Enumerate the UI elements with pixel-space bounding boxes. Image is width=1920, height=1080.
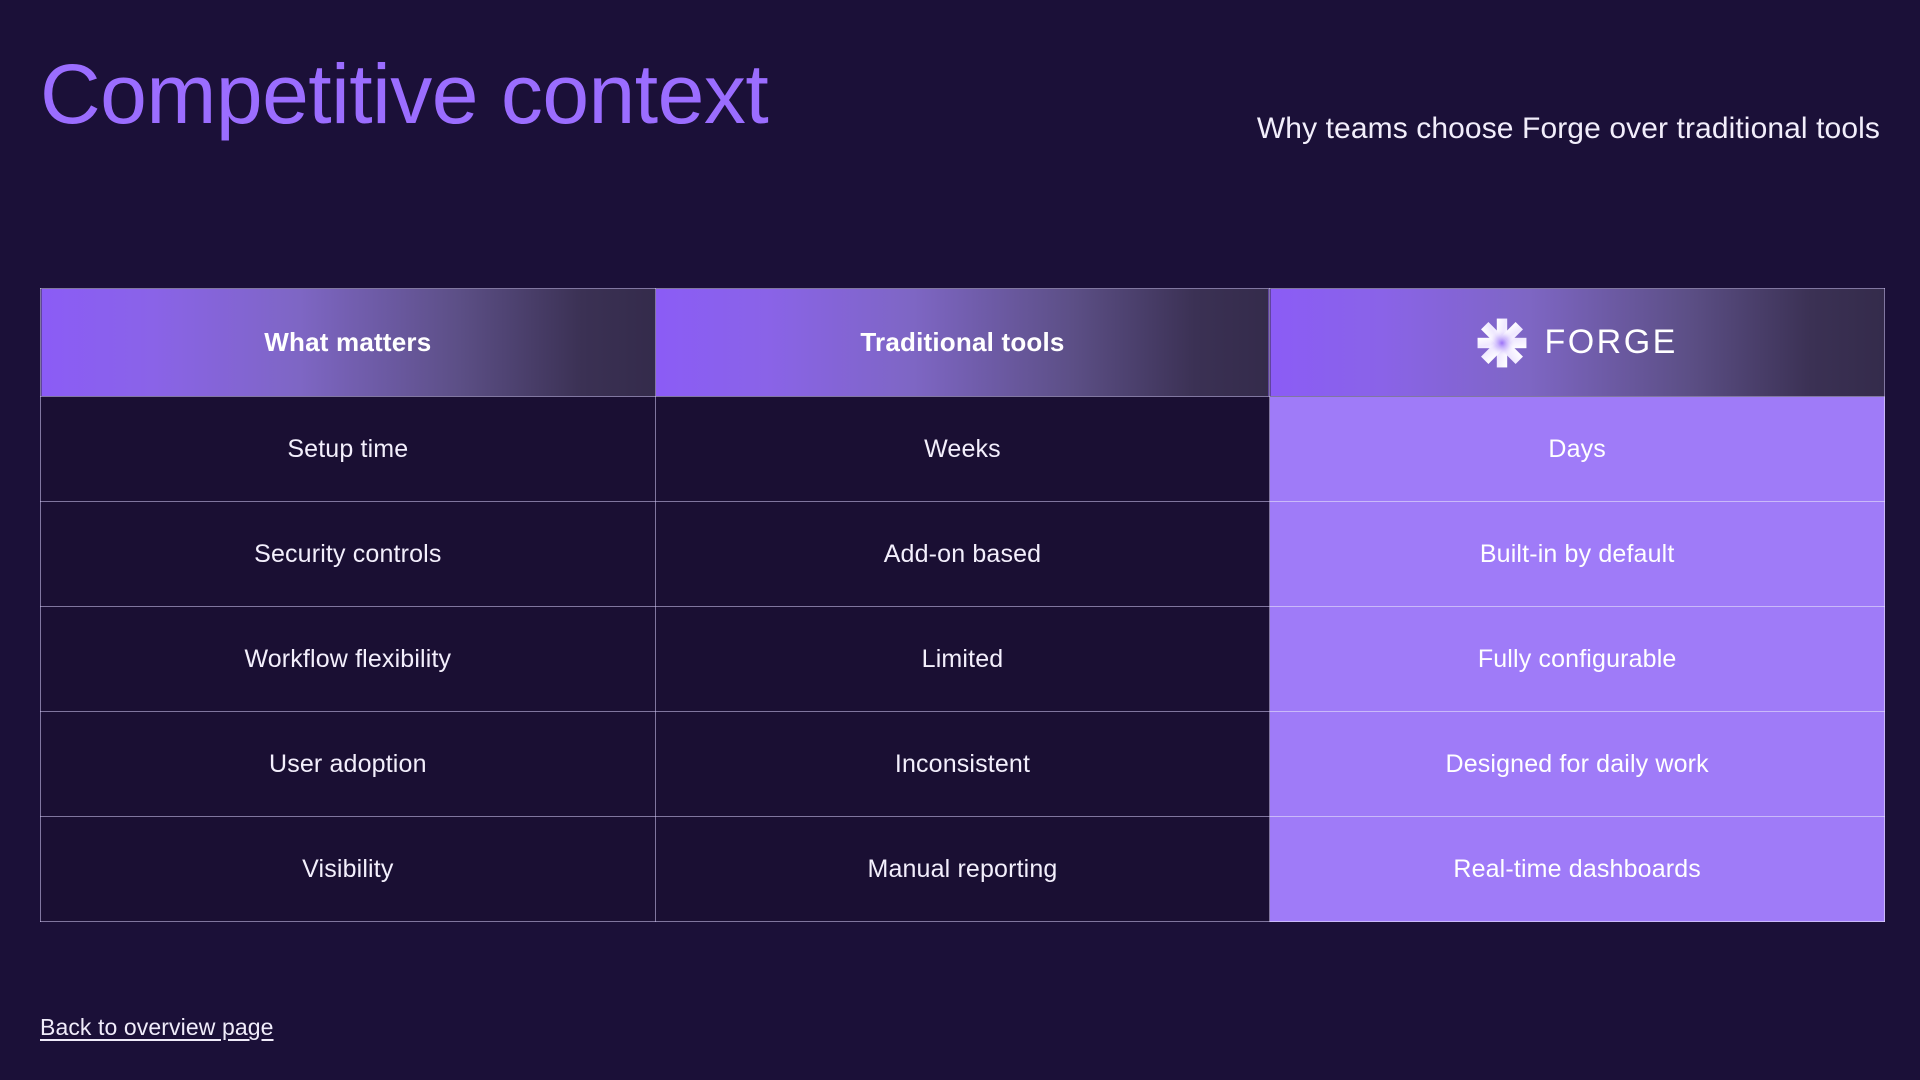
- cell-what-matters: Security controls: [41, 502, 656, 607]
- brand-lockup: FORGE: [1286, 317, 1868, 369]
- cell-what-matters: User adoption: [41, 712, 656, 817]
- column-header-label: What matters: [264, 327, 431, 358]
- table-row: Visibility Manual reporting Real-time da…: [41, 817, 1885, 922]
- comparison-table-wrapper: What matters Traditional tools: [40, 288, 1885, 922]
- cell-what-matters: Workflow flexibility: [41, 607, 656, 712]
- column-header-what-matters: What matters: [41, 289, 656, 397]
- cell-forge: Real-time dashboards: [1270, 817, 1885, 922]
- cell-forge: Built-in by default: [1270, 502, 1885, 607]
- forge-asterisk-icon: [1476, 317, 1528, 369]
- brand-name-label: FORGE: [1544, 323, 1677, 362]
- column-header-label: Traditional tools: [860, 327, 1064, 358]
- table-row: Setup time Weeks Days: [41, 397, 1885, 502]
- cell-forge: Fully configurable: [1270, 607, 1885, 712]
- cell-what-matters: Setup time: [41, 397, 656, 502]
- cell-forge: Designed for daily work: [1270, 712, 1885, 817]
- column-header-traditional-tools: Traditional tools: [655, 289, 1270, 397]
- cell-traditional: Manual reporting: [655, 817, 1270, 922]
- cell-traditional: Add-on based: [655, 502, 1270, 607]
- table-row: User adoption Inconsistent Designed for …: [41, 712, 1885, 817]
- cell-forge: Days: [1270, 397, 1885, 502]
- table-row: Security controls Add-on based Built-in …: [41, 502, 1885, 607]
- table-body: Setup time Weeks Days Security controls …: [41, 397, 1885, 922]
- cell-traditional: Inconsistent: [655, 712, 1270, 817]
- slide-root: Competitive context Why teams choose For…: [0, 0, 1920, 1080]
- cell-traditional: Weeks: [655, 397, 1270, 502]
- table-head: What matters Traditional tools: [41, 289, 1885, 397]
- back-to-overview-link[interactable]: Back to overview page: [40, 1014, 274, 1041]
- table-header-row: What matters Traditional tools: [41, 289, 1885, 397]
- column-header-forge: FORGE: [1270, 289, 1885, 397]
- table-row: Workflow flexibility Limited Fully confi…: [41, 607, 1885, 712]
- page-title: Competitive context: [40, 52, 768, 138]
- slide-header: Competitive context Why teams choose For…: [40, 52, 1880, 162]
- page-subtitle: Why teams choose Forge over traditional …: [1257, 112, 1880, 146]
- comparison-table: What matters Traditional tools: [40, 288, 1885, 922]
- cell-traditional: Limited: [655, 607, 1270, 712]
- cell-what-matters: Visibility: [41, 817, 656, 922]
